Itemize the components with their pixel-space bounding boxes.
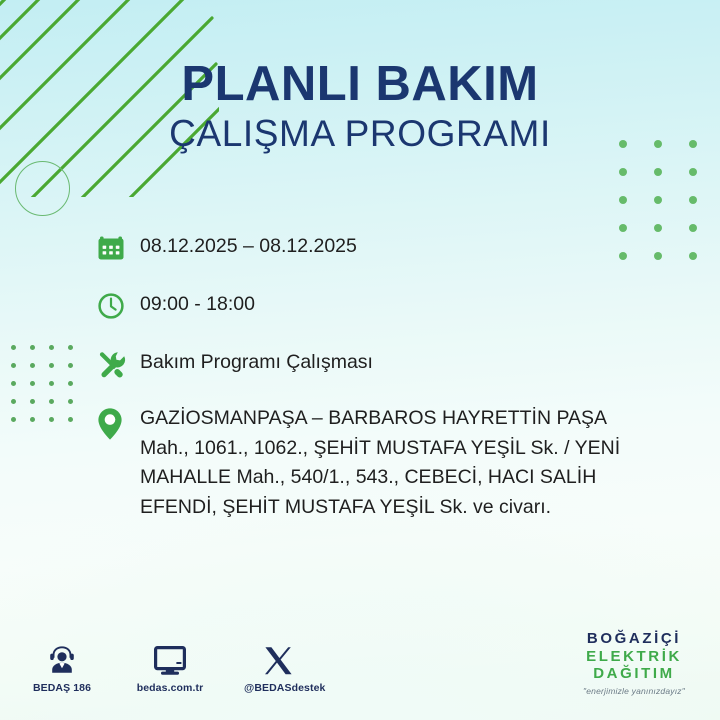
work-type-row: Bakım Programı Çalışması (96, 344, 676, 384)
contact-x-label: @BEDASdestek (244, 682, 325, 694)
calendar-icon (96, 228, 140, 268)
x-twitter-icon (244, 640, 312, 678)
address-line: GAZİOSMANPAŞA – BARBAROS HAYRETTİN PAŞA (140, 404, 620, 434)
contact-x-twitter[interactable]: @BEDASdestek (244, 640, 312, 696)
date-range-text: 08.12.2025 – 08.12.2025 (140, 228, 357, 256)
page-title-main: PLANLI BAKIM (0, 60, 720, 109)
monitor-icon (136, 640, 204, 678)
time-row: 09:00 - 18:00 (96, 286, 676, 326)
contact-phone-bedas186[interactable]: BEDAŞ 186 (28, 640, 96, 696)
brand-logo: BOĞAZİÇİ ELEKTRİK DAĞITIM "enerjimizle y… (560, 630, 708, 696)
page-title-sub: ÇALIŞMA PROGRAMI (0, 115, 720, 154)
contact-website-label: bedas.com.tr (137, 682, 204, 694)
contact-website[interactable]: bedas.com.tr (136, 640, 204, 696)
clock-icon (96, 286, 140, 326)
address-line: EFENDİ, ŞEHİT MUSTAFA YEŞİL Sk. ve civar… (140, 493, 620, 523)
map-pin-icon (96, 402, 140, 442)
address-row: GAZİOSMANPAŞA – BARBAROS HAYRETTİN PAŞA … (96, 402, 676, 523)
tools-icon (96, 344, 140, 384)
brand-tagline: "enerjimizle yanınızdayız" (560, 686, 708, 696)
poster-canvas: PLANLI BAKIM ÇALIŞMA PROGRAMI (0, 0, 720, 720)
headset-support-icon (28, 640, 96, 678)
address-line: MAHALLE Mah., 540/1., 543., CEBECİ, HACI… (140, 463, 620, 493)
date-row: 08.12.2025 – 08.12.2025 (96, 228, 676, 268)
footer-contacts: BEDAŞ 186 bedas.com.tr @BEDASdestek (28, 640, 312, 696)
address-line: Mah., 1061., 1062., ŞEHİT MUSTAFA YEŞİL … (140, 434, 620, 464)
outage-info-block: 08.12.2025 – 08.12.2025 09:00 - 18:00 (96, 228, 676, 523)
brand-line-1: BOĞAZİÇİ (560, 630, 708, 648)
address-text: GAZİOSMANPAŞA – BARBAROS HAYRETTİN PAŞA … (140, 402, 620, 523)
work-type-text: Bakım Programı Çalışması (140, 344, 373, 372)
brand-line-2: ELEKTRİK (560, 648, 708, 666)
brand-line-3: DAĞITIM (560, 665, 708, 683)
page-header: PLANLI BAKIM ÇALIŞMA PROGRAMI (0, 60, 720, 154)
dot-grid-left-decoration (11, 345, 87, 435)
time-range-text: 09:00 - 18:00 (140, 286, 255, 314)
circle-outline-decoration (15, 161, 70, 216)
contact-phone-label: BEDAŞ 186 (33, 682, 91, 694)
